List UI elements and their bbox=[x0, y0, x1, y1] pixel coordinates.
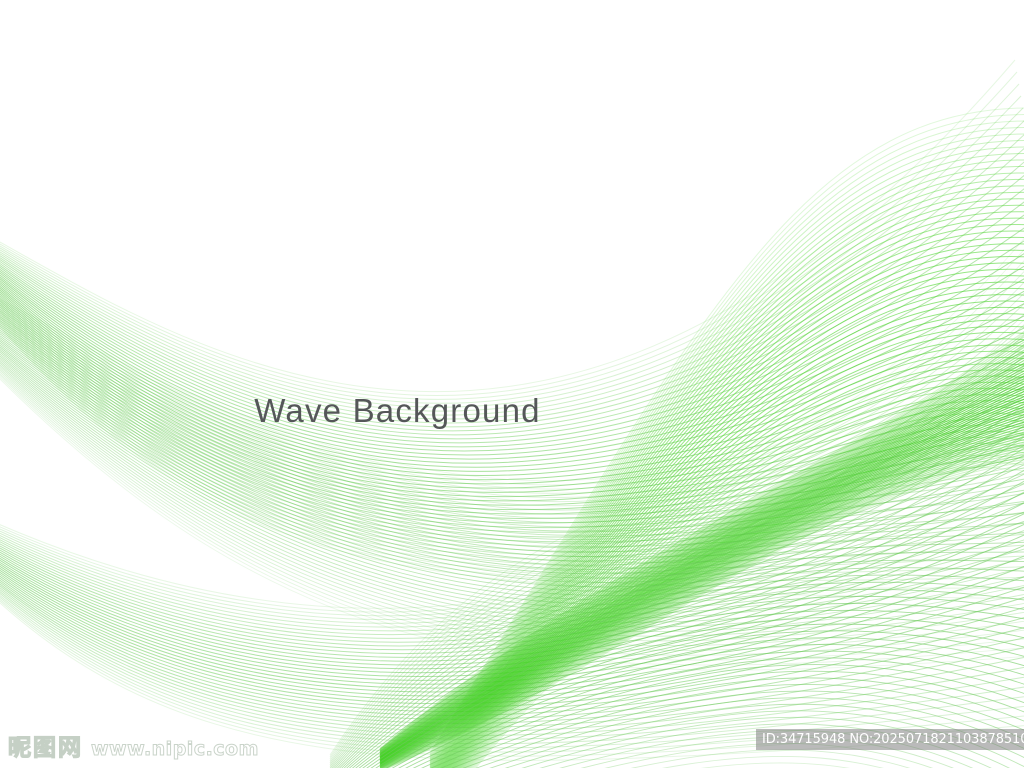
wave-background-canvas: Wave Background 昵图网 www.nipic.com ID:347… bbox=[0, 0, 1024, 768]
wave-artwork bbox=[0, 0, 1024, 768]
